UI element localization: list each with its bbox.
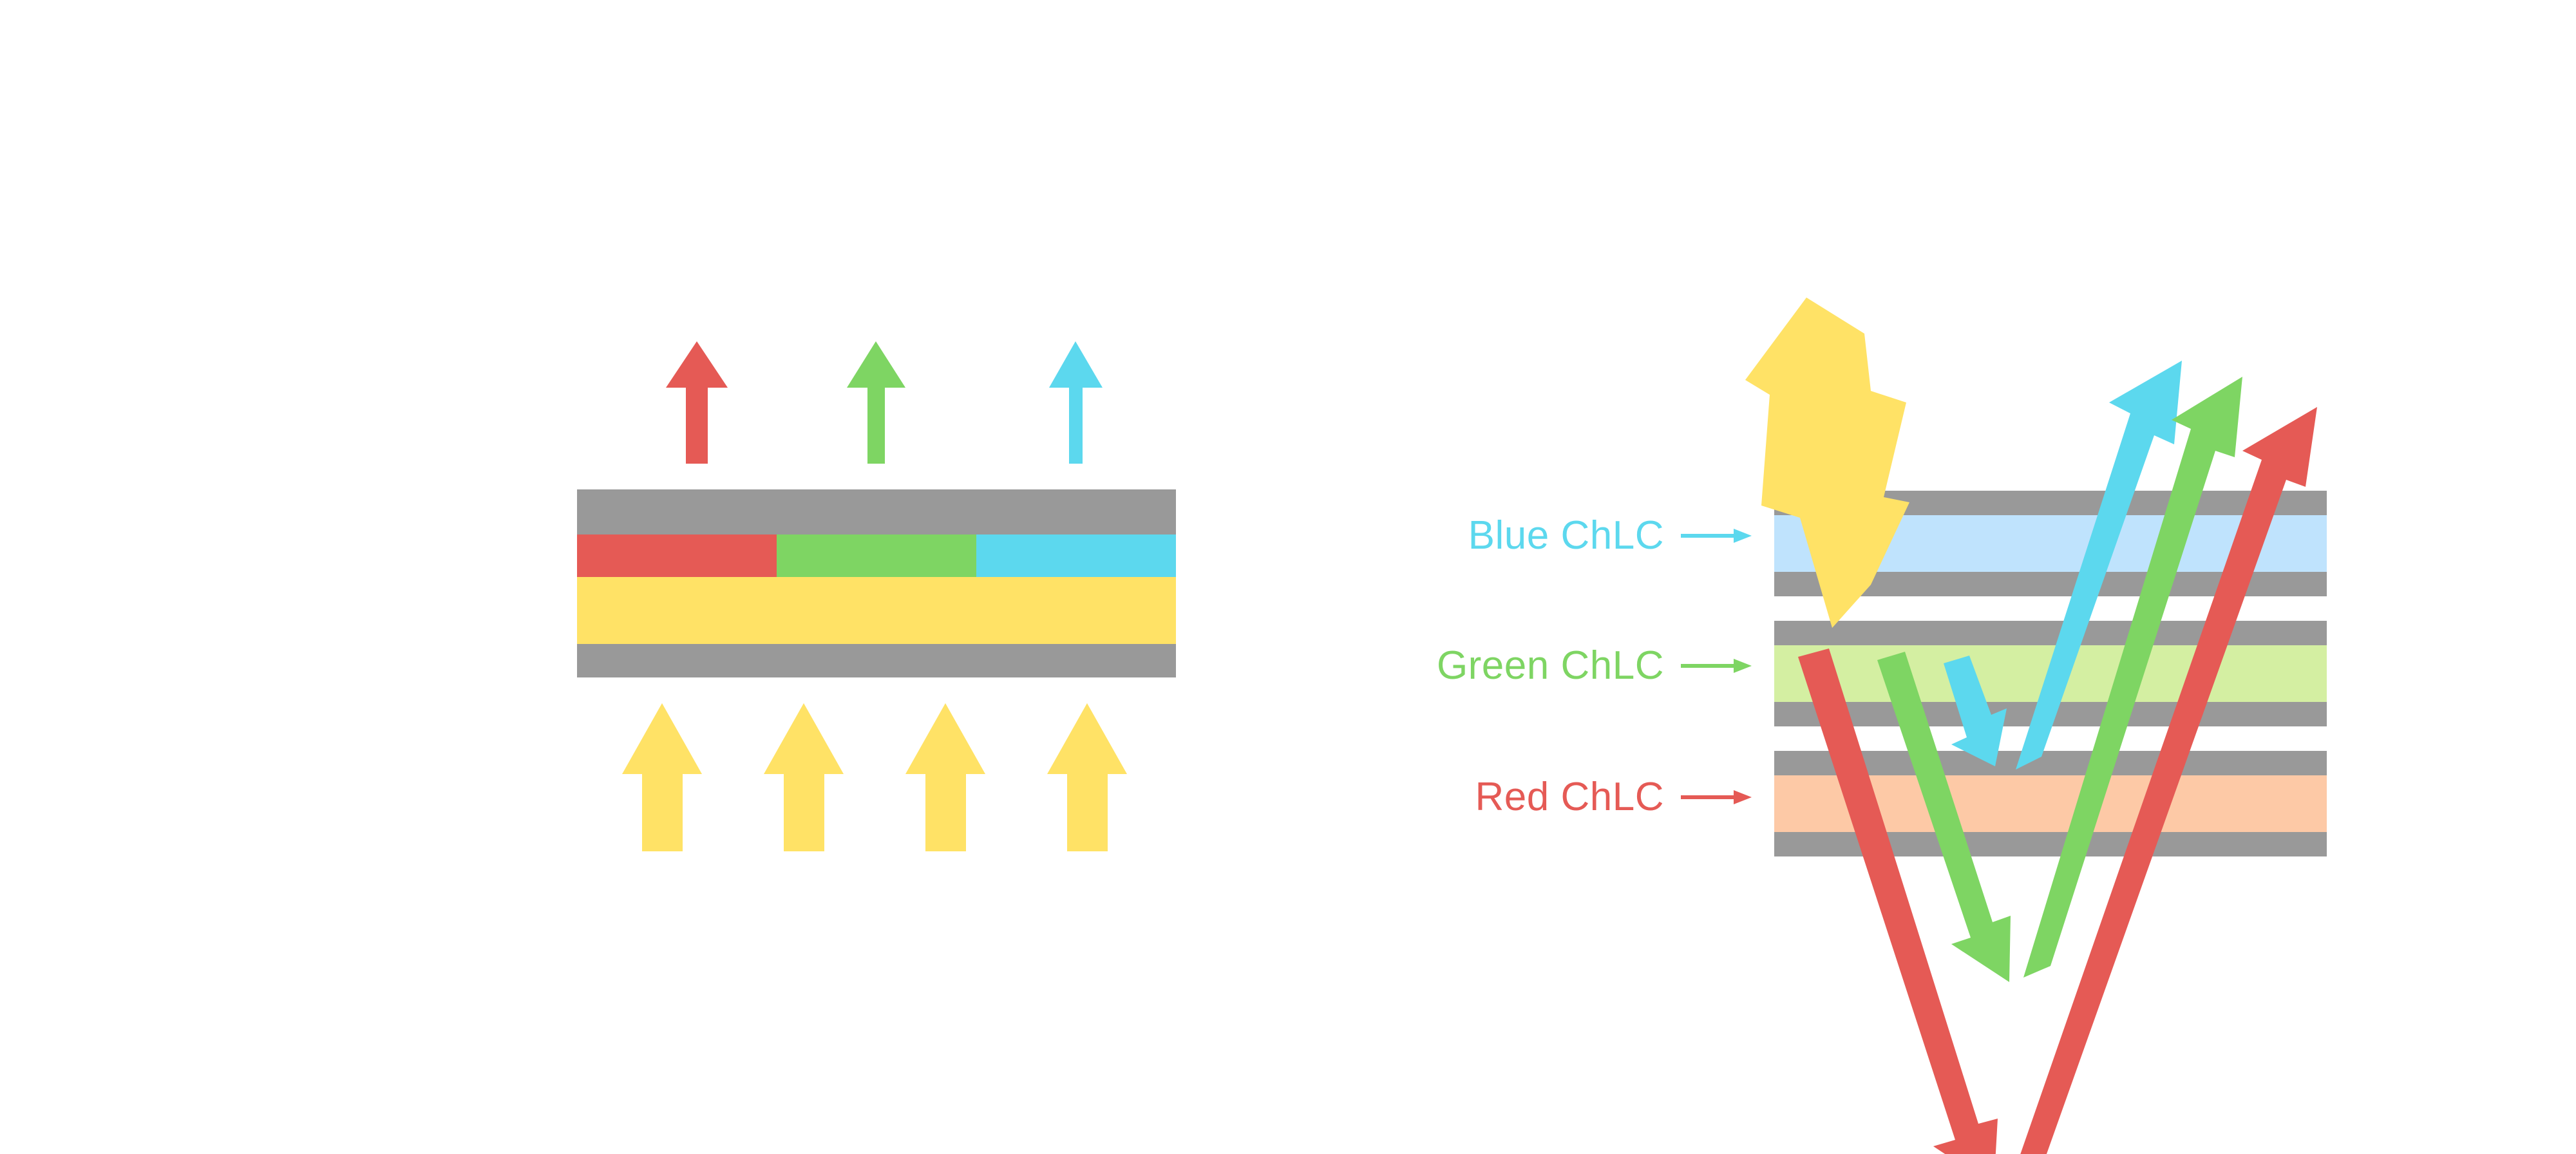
ray-paths-group	[1739, 258, 2383, 902]
green-chlc-label-row: Green ChLC	[1320, 639, 1752, 693]
right-panel: Blue ChLC Green ChLC Red ChLC	[0, 0, 2576, 1154]
blue-incoming-ray	[1944, 656, 2007, 766]
red-label-arrow-icon	[1681, 788, 1752, 807]
blue-chlc-label: Blue ChLC	[1468, 516, 1664, 556]
green-chlc-label: Green ChLC	[1437, 646, 1664, 686]
diagram-canvas: Blue ChLC Green ChLC Red ChLC	[0, 0, 2576, 1154]
green-label-arrow-icon	[1681, 656, 1752, 676]
blue-label-arrow-icon	[1681, 526, 1752, 545]
incident-white-light-arrow	[1745, 298, 1909, 628]
red-chlc-label: Red ChLC	[1475, 777, 1664, 817]
blue-chlc-label-row: Blue ChLC	[1320, 509, 1752, 563]
red-chlc-label-row: Red ChLC	[1320, 770, 1752, 824]
